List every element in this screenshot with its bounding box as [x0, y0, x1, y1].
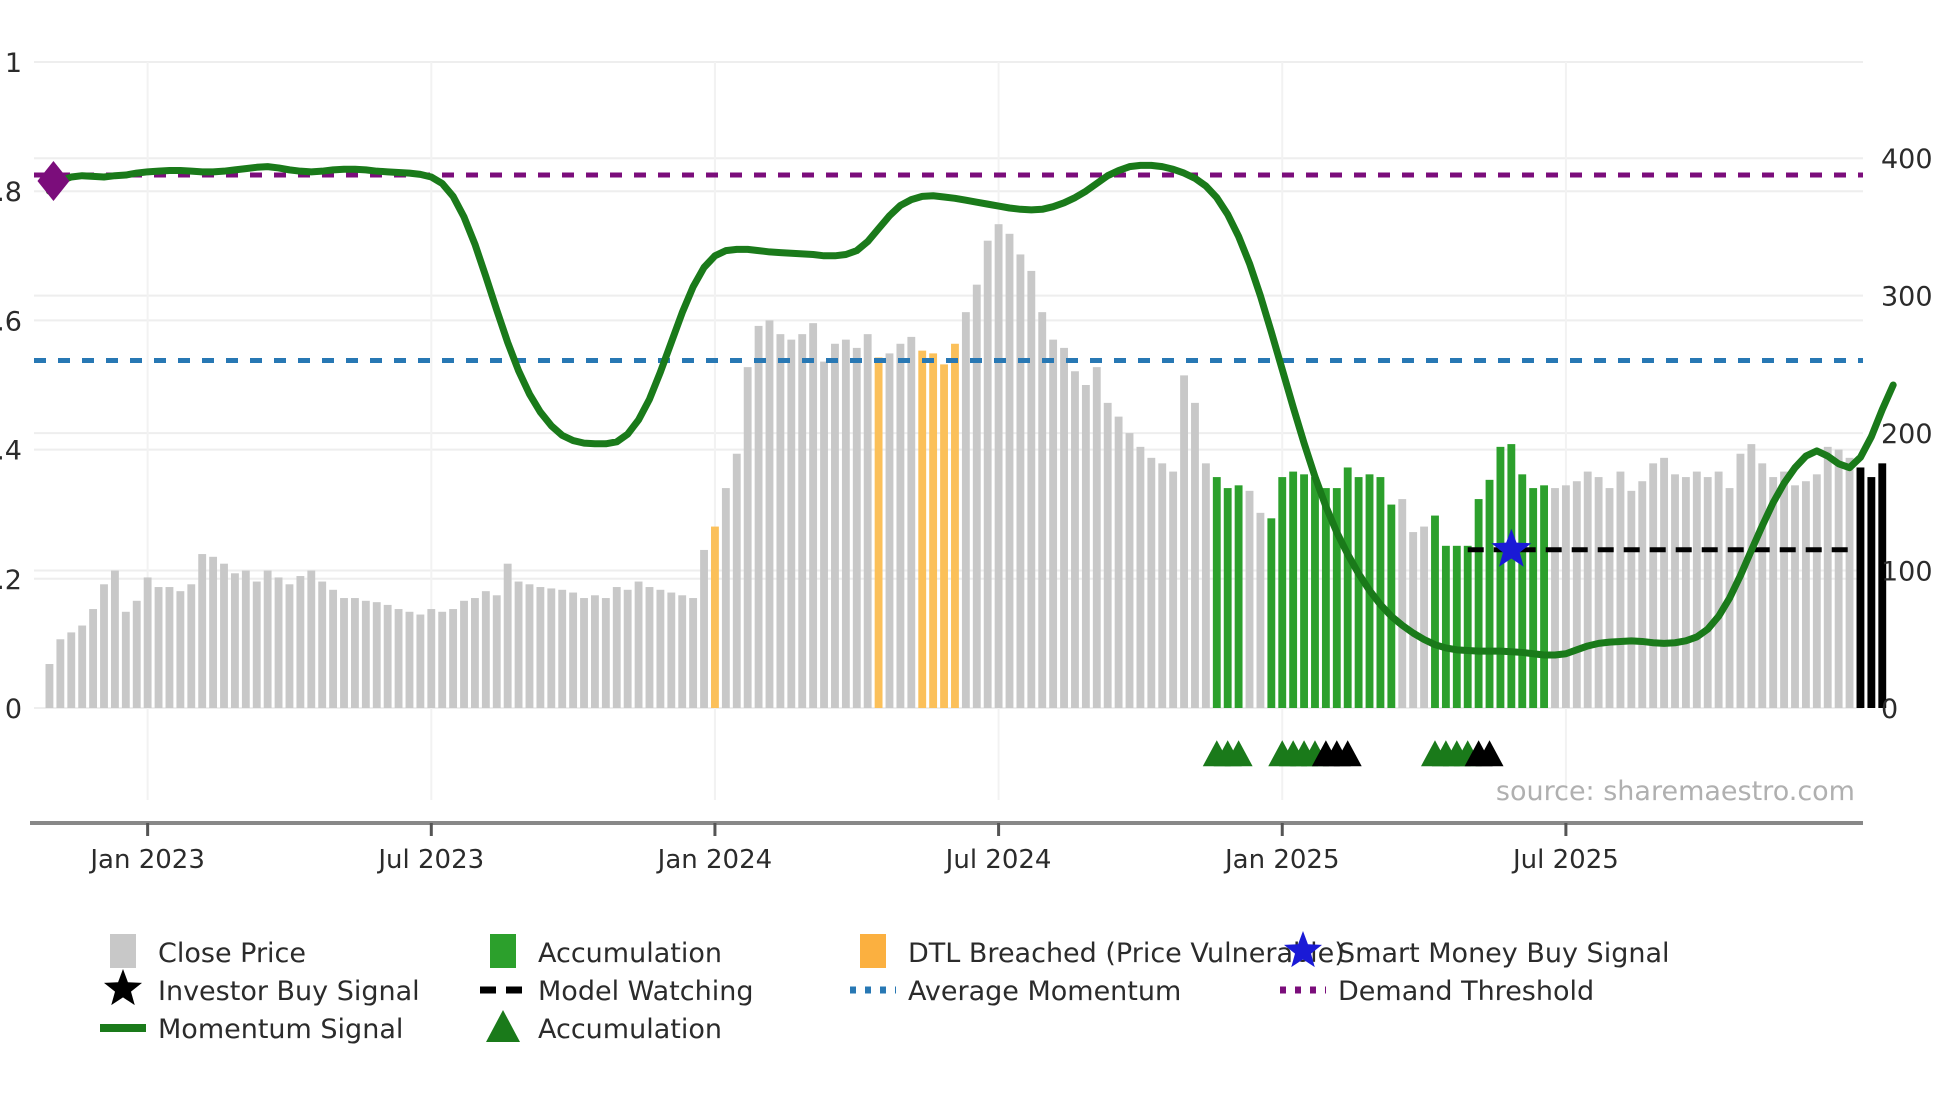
price-bar[interactable]	[416, 615, 424, 708]
price-bar[interactable]	[1715, 472, 1723, 708]
price-bar[interactable]	[1453, 546, 1461, 708]
price-bar[interactable]	[296, 576, 304, 708]
price-bar[interactable]	[275, 577, 283, 708]
legend-swatch-square	[490, 934, 516, 968]
momentum-price-chart[interactable]: 00.20.40.60.810100200300400Jan 2023Jul 2…	[0, 0, 1960, 1102]
price-bar[interactable]	[1638, 481, 1646, 708]
price-bar[interactable]	[1649, 463, 1657, 708]
price-bar[interactable]	[1551, 488, 1559, 708]
price-bar[interactable]	[1595, 477, 1603, 708]
price-bar[interactable]	[809, 323, 817, 708]
price-bar[interactable]	[111, 571, 119, 708]
price-bar[interactable]	[1355, 477, 1363, 708]
price-bar[interactable]	[1344, 467, 1352, 708]
price-bar[interactable]	[406, 612, 414, 708]
price-bar[interactable]	[1464, 546, 1472, 708]
x-axis-tick-label: Jul 2024	[944, 845, 1052, 875]
price-bar[interactable]	[1573, 481, 1581, 708]
x-axis-tick-label: Jan 2025	[1223, 845, 1340, 875]
legend-item[interactable]: Model Watching	[480, 976, 753, 1007]
price-bar[interactable]	[1387, 505, 1395, 708]
y-axis-right-tick-label: 100	[1881, 557, 1933, 588]
price-bar[interactable]	[1202, 463, 1210, 708]
legend-item[interactable]: Demand Threshold	[1280, 976, 1594, 1007]
price-bar[interactable]	[329, 590, 337, 708]
price-bar[interactable]	[198, 554, 206, 708]
price-bar[interactable]	[1093, 367, 1101, 708]
price-bar[interactable]	[1867, 477, 1875, 708]
price-bar[interactable]	[384, 605, 392, 708]
price-bar[interactable]	[1224, 488, 1232, 708]
price-bar[interactable]	[864, 334, 872, 708]
price-bar[interactable]	[733, 454, 741, 708]
price-bar[interactable]	[1235, 485, 1243, 708]
price-bar[interactable]	[1791, 485, 1799, 708]
price-bar[interactable]	[526, 584, 534, 708]
price-bar[interactable]	[820, 362, 828, 708]
price-bar[interactable]	[318, 582, 326, 708]
price-bar[interactable]	[1518, 474, 1526, 708]
y-axis-left-tick-label: 1	[5, 48, 22, 79]
price-bar[interactable]	[427, 609, 435, 708]
price-bar[interactable]	[1846, 458, 1854, 708]
y-axis-left-tick-label: 0	[5, 694, 22, 725]
price-bar[interactable]	[536, 587, 544, 708]
price-bar[interactable]	[264, 571, 272, 708]
y-axis-left-tick-label: 0.8	[0, 177, 22, 208]
price-bar[interactable]	[89, 609, 97, 708]
legend-item-label: DTL Breached (Price Vulnerable)	[908, 938, 1345, 969]
price-bar[interactable]	[1507, 444, 1515, 708]
x-axis-tick-label: Jan 2023	[88, 845, 205, 875]
price-bar[interactable]	[460, 601, 468, 708]
legend-item[interactable]: Accumulation	[486, 1010, 722, 1045]
price-bar[interactable]	[1169, 472, 1177, 708]
source-text: source: sharemaestro.com	[1496, 776, 1855, 807]
price-bar[interactable]	[602, 598, 610, 708]
price-bar[interactable]	[1038, 312, 1046, 708]
price-bar[interactable]	[286, 584, 294, 708]
price-bar[interactable]	[907, 337, 915, 708]
x-axis-tick-label: Jul 2023	[376, 845, 484, 875]
legend-item-label: Accumulation	[538, 938, 722, 969]
price-bar[interactable]	[493, 595, 501, 708]
price-bar[interactable]	[711, 527, 719, 708]
legend-item-label: Momentum Signal	[158, 1014, 403, 1045]
price-bar[interactable]	[995, 224, 1003, 708]
legend-triangle-icon	[486, 1010, 520, 1042]
y-axis-left-tick-label: 0.4	[0, 436, 22, 467]
price-bar[interactable]	[678, 595, 686, 708]
price-bar[interactable]	[1311, 477, 1319, 708]
price-bar[interactable]	[100, 584, 108, 708]
close-price-bars[interactable]	[46, 224, 1887, 708]
price-bar[interactable]	[875, 358, 883, 708]
y-axis-right-tick-label: 0	[1881, 694, 1898, 725]
price-bar[interactable]	[78, 626, 86, 708]
price-bar[interactable]	[1409, 532, 1417, 708]
price-bar[interactable]	[646, 587, 654, 708]
price-bar[interactable]	[1191, 403, 1199, 708]
price-bar[interactable]	[896, 344, 904, 708]
legend-item[interactable]: Average Momentum	[850, 976, 1181, 1007]
price-bar[interactable]	[1289, 472, 1297, 708]
price-bar[interactable]	[842, 340, 850, 708]
price-bar[interactable]	[1115, 417, 1123, 708]
legend-swatch-square	[110, 934, 136, 968]
price-bar[interactable]	[656, 590, 664, 708]
price-bar[interactable]	[984, 241, 992, 708]
price-bar[interactable]	[1006, 234, 1014, 708]
price-bar[interactable]	[1758, 463, 1766, 708]
price-bar[interactable]	[1104, 403, 1112, 708]
price-bar[interactable]	[635, 582, 643, 708]
demand-threshold-start-marker	[37, 161, 69, 201]
price-bar[interactable]	[187, 584, 195, 708]
price-bar[interactable]	[1529, 488, 1537, 708]
price-bar[interactable]	[1780, 472, 1788, 708]
price-bar[interactable]	[1420, 527, 1428, 708]
price-bar[interactable]	[1082, 385, 1090, 708]
legend-item[interactable]: Investor Buy Signal	[104, 969, 420, 1007]
legend-item[interactable]: Close Price	[110, 934, 306, 969]
legend-item-label: Smart Money Buy Signal	[1338, 938, 1670, 969]
legend-item[interactable]: Momentum Signal	[100, 1014, 403, 1045]
price-bar[interactable]	[56, 639, 64, 708]
price-bar[interactable]	[776, 334, 784, 708]
y-axis-left-tick-label: 0.6	[0, 306, 22, 337]
price-bar[interactable]	[1267, 518, 1275, 708]
price-bar[interactable]	[166, 587, 174, 708]
price-bar[interactable]	[220, 564, 228, 708]
price-bar[interactable]	[253, 582, 261, 708]
price-bar[interactable]	[722, 488, 730, 708]
price-bar[interactable]	[515, 582, 523, 708]
price-bar[interactable]	[798, 334, 806, 708]
y-axis-right-tick-label: 400	[1881, 144, 1933, 175]
price-bar[interactable]	[1813, 474, 1821, 708]
price-bar[interactable]	[1278, 477, 1286, 708]
y-axis-right-tick-label: 300	[1881, 282, 1933, 313]
x-axis-tick-label: Jan 2024	[656, 845, 773, 875]
price-bar[interactable]	[1300, 474, 1308, 708]
price-bar[interactable]	[231, 573, 239, 708]
price-bar[interactable]	[1377, 477, 1385, 708]
price-bar[interactable]	[449, 609, 457, 708]
price-bar[interactable]	[155, 587, 163, 708]
price-bar[interactable]	[1136, 447, 1144, 708]
legend-item-label: Close Price	[158, 938, 306, 969]
price-bar[interactable]	[1671, 474, 1679, 708]
price-bar[interactable]	[667, 593, 675, 708]
price-bar[interactable]	[853, 348, 861, 708]
price-bar[interactable]	[1256, 513, 1264, 708]
price-bar[interactable]	[547, 588, 555, 708]
price-bar[interactable]	[831, 344, 839, 708]
price-bar[interactable]	[1126, 433, 1134, 708]
price-bar[interactable]	[962, 312, 970, 708]
price-bar[interactable]	[1147, 458, 1155, 708]
price-bar[interactable]	[569, 593, 577, 708]
price-bar[interactable]	[1824, 447, 1832, 708]
legend-item-label: Demand Threshold	[1338, 976, 1594, 1007]
legend-item[interactable]: Smart Money Buy Signal	[1284, 931, 1670, 969]
price-bar[interactable]	[1835, 450, 1843, 708]
chart-page: 00.20.40.60.810100200300400Jan 2023Jul 2…	[0, 0, 1960, 1102]
price-bar[interactable]	[1431, 516, 1439, 708]
price-bar[interactable]	[940, 364, 948, 708]
price-bar[interactable]	[1442, 546, 1450, 708]
price-bar[interactable]	[1398, 499, 1406, 708]
source-attribution: source: sharemaestro.com	[1496, 776, 1855, 807]
x-axis-tick-label: Jul 2025	[1511, 845, 1619, 875]
price-bar[interactable]	[973, 285, 981, 708]
price-bar[interactable]	[122, 612, 130, 708]
price-bar[interactable]	[1693, 472, 1701, 708]
price-bar[interactable]	[744, 367, 752, 708]
price-bar[interactable]	[351, 598, 359, 708]
price-bar[interactable]	[67, 632, 75, 708]
price-bar[interactable]	[1584, 472, 1592, 708]
price-bar[interactable]	[591, 595, 599, 708]
price-bar[interactable]	[1497, 447, 1505, 708]
price-bar[interactable]	[1027, 271, 1035, 708]
price-bar[interactable]	[951, 344, 959, 708]
price-bar[interactable]	[787, 340, 795, 708]
chart-legend[interactable]: Close PriceAccumulationDTL Breached (Pri…	[100, 931, 1670, 1045]
price-bar[interactable]	[1802, 481, 1810, 708]
price-bar[interactable]	[558, 590, 566, 708]
price-bar[interactable]	[1606, 488, 1614, 708]
price-bar[interactable]	[307, 571, 315, 708]
price-bar[interactable]	[1060, 348, 1068, 708]
price-bar[interactable]	[1246, 491, 1254, 708]
price-bar[interactable]	[1682, 477, 1690, 708]
legend-star-icon	[104, 969, 142, 1005]
price-bar[interactable]	[1704, 477, 1712, 708]
price-bar[interactable]	[1213, 477, 1221, 708]
price-bar[interactable]	[766, 320, 774, 708]
price-bar[interactable]	[1158, 463, 1166, 708]
legend-item[interactable]: DTL Breached (Price Vulnerable)	[860, 934, 1345, 969]
price-bar[interactable]	[133, 601, 141, 708]
price-bar[interactable]	[504, 564, 512, 708]
price-bar[interactable]	[1180, 375, 1188, 708]
legend-item-label: Model Watching	[538, 976, 753, 1007]
price-bar[interactable]	[373, 602, 381, 708]
legend-item-label: Accumulation	[538, 1014, 722, 1045]
price-bar[interactable]	[46, 664, 54, 708]
price-bar[interactable]	[1617, 472, 1625, 708]
price-bar[interactable]	[624, 590, 632, 708]
y-axis-right-tick-label: 200	[1881, 419, 1933, 450]
legend-swatch-square	[860, 934, 886, 968]
price-bar[interactable]	[176, 591, 184, 708]
price-bar[interactable]	[471, 598, 479, 708]
price-bar[interactable]	[1627, 491, 1635, 708]
price-bar[interactable]	[362, 601, 370, 708]
price-bar[interactable]	[580, 598, 588, 708]
price-bar[interactable]	[929, 353, 937, 708]
legend-item[interactable]: Accumulation	[490, 934, 722, 969]
legend-item-label: Average Momentum	[908, 976, 1181, 1007]
price-bar[interactable]	[700, 550, 708, 708]
legend-item-label: Investor Buy Signal	[158, 976, 420, 1007]
price-bar[interactable]	[918, 351, 926, 708]
price-bar[interactable]	[438, 612, 446, 708]
price-bar[interactable]	[1562, 485, 1570, 708]
price-bar[interactable]	[886, 353, 894, 708]
price-bar[interactable]	[1540, 485, 1548, 708]
price-bar[interactable]	[1071, 371, 1079, 708]
price-bar[interactable]	[1857, 467, 1865, 708]
y-axis-left-tick-label: 0.2	[0, 565, 22, 596]
price-bar[interactable]	[613, 587, 621, 708]
price-bar[interactable]	[1660, 458, 1668, 708]
price-bar[interactable]	[395, 609, 403, 708]
price-bar[interactable]	[755, 326, 763, 708]
price-bar[interactable]	[482, 591, 490, 708]
price-bar[interactable]	[1747, 444, 1755, 708]
price-bar[interactable]	[242, 571, 250, 708]
price-bar[interactable]	[209, 557, 217, 708]
price-bar[interactable]	[1016, 254, 1024, 708]
price-bar[interactable]	[689, 598, 697, 708]
price-bar[interactable]	[340, 598, 348, 708]
price-bar[interactable]	[1486, 480, 1494, 708]
price-bar[interactable]	[144, 577, 152, 708]
price-bar[interactable]	[1475, 499, 1483, 708]
price-bar[interactable]	[1049, 340, 1057, 708]
